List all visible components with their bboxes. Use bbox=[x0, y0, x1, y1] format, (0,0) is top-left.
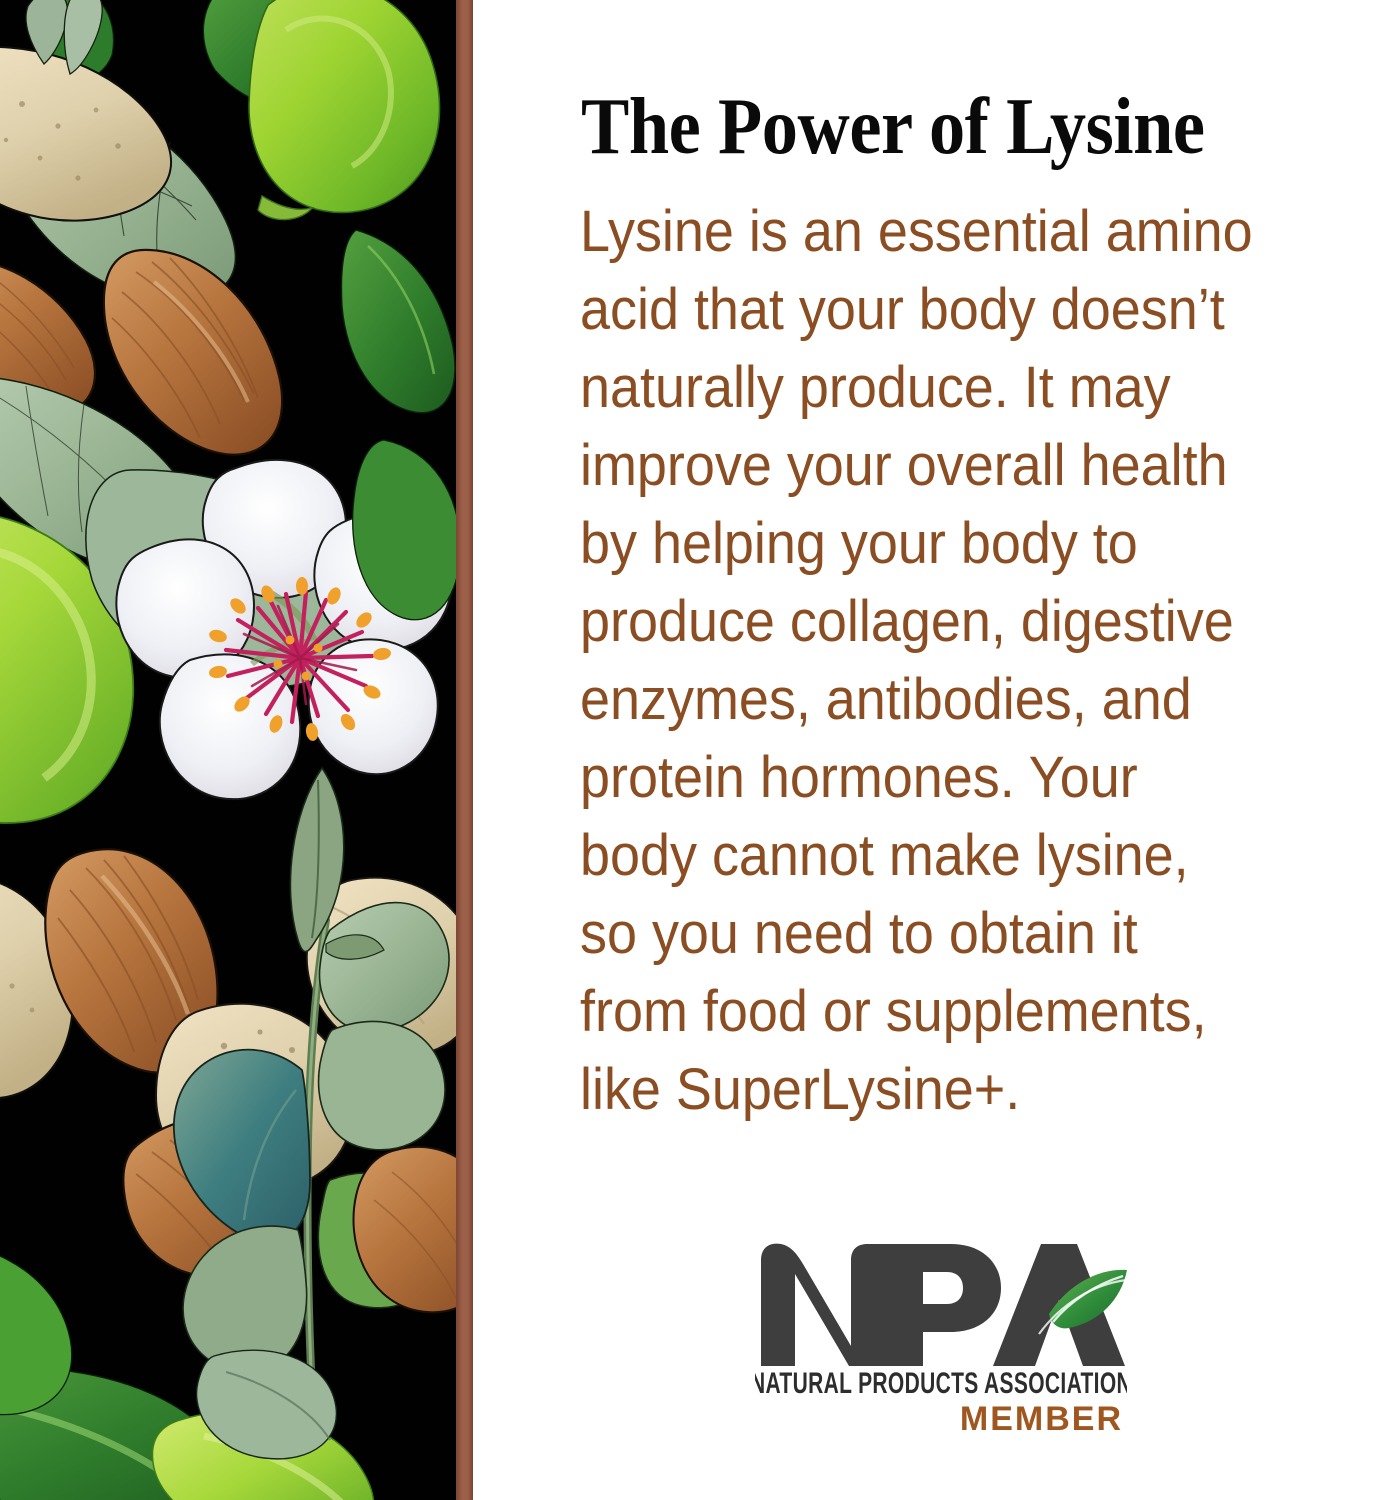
paragraph-line: acid that your body doesn’t bbox=[580, 271, 1335, 349]
text-content-column: The Power of Lysine Lysine is an essenti… bbox=[473, 0, 1376, 1500]
npa-member-text: MEMBER bbox=[755, 1400, 1127, 1436]
paragraph-line: from food or supplements, bbox=[580, 973, 1335, 1051]
almond-illustration-svg bbox=[0, 0, 456, 1500]
almond-botanical-illustration bbox=[0, 0, 456, 1500]
paragraph-line: Lysine is an essential amino bbox=[580, 193, 1335, 271]
paragraph-line: enzymes, antibodies, and bbox=[580, 661, 1335, 739]
npa-org-text: Natural Products Association bbox=[755, 1366, 1127, 1400]
paragraph-line: like SuperLysine+. bbox=[580, 1051, 1335, 1129]
paragraph-line: produce collagen, digestive bbox=[580, 583, 1335, 661]
paragraph-line: so you need to obtain it bbox=[580, 895, 1335, 973]
npa-organization-name: Natural Products Association bbox=[755, 1366, 1127, 1400]
npa-member-status: MEMBER bbox=[755, 1400, 1127, 1436]
paragraph-line: improve your overall health bbox=[580, 427, 1335, 505]
svg-text:MEMBER: MEMBER bbox=[960, 1400, 1123, 1436]
svg-text:Natural Products Association: Natural Products Association bbox=[755, 1368, 1127, 1400]
paragraph-line: by helping your body to bbox=[580, 505, 1335, 583]
product-info-panel: The Power of Lysine Lysine is an essenti… bbox=[0, 0, 1376, 1500]
paragraph-line: naturally produce. It may bbox=[580, 349, 1335, 427]
paragraph-line: protein hormones. Your bbox=[580, 739, 1335, 817]
npa-monogram-icon bbox=[755, 1242, 1127, 1366]
paragraph-line: body cannot make lysine, bbox=[580, 817, 1335, 895]
page-title: The Power of Lysine bbox=[581, 84, 1305, 170]
description-paragraph: Lysine is an essential amino acid that y… bbox=[580, 193, 1335, 1129]
green-almond-drupe-top bbox=[249, 0, 440, 212]
npa-member-logo: Natural Products Association MEMBER bbox=[755, 1242, 1127, 1432]
vertical-divider bbox=[456, 0, 473, 1500]
